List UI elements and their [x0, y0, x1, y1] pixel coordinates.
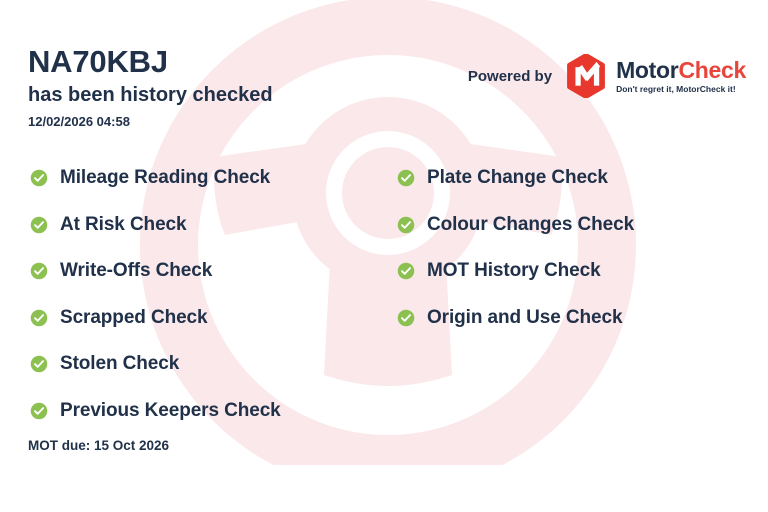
green-check-circle-icon: [397, 216, 415, 234]
check-label: Stolen Check: [60, 353, 179, 375]
green-check-circle-icon: [30, 355, 48, 373]
mot-due-text: MOT due: 15 Oct 2026: [28, 438, 169, 453]
green-check-circle-icon: [397, 169, 415, 187]
motorcheck-logo[interactable]: MotorCheck Don't regret it, MotorCheck i…: [564, 54, 746, 98]
header: NA70KBJ has been history checked 12/02/2…: [28, 46, 273, 129]
check-row: Write-Offs Check: [30, 248, 281, 295]
motorcheck-wordmark-block: MotorCheck Don't regret it, MotorCheck i…: [616, 59, 746, 94]
check-label: Mileage Reading Check: [60, 167, 270, 189]
check-label: Previous Keepers Check: [60, 400, 281, 422]
check-label: Plate Change Check: [427, 167, 608, 189]
green-check-circle-icon: [30, 402, 48, 420]
green-check-circle-icon: [30, 169, 48, 187]
history-checked-subtitle: has been history checked: [28, 83, 273, 107]
powered-by-label: Powered by: [468, 68, 552, 85]
check-label: Write-Offs Check: [60, 260, 212, 282]
green-check-circle-icon: [397, 309, 415, 327]
powered-by-block: Powered by MotorCheck Don't regret it, M…: [468, 54, 746, 98]
vehicle-history-check-card: NA70KBJ has been history checked 12/02/2…: [0, 0, 768, 512]
vehicle-registration-plate: NA70KBJ: [28, 46, 273, 79]
check-timestamp: 12/02/2026 04:58: [28, 114, 273, 129]
check-row: Colour Changes Check: [397, 202, 634, 249]
check-row: Previous Keepers Check: [30, 388, 281, 435]
checks-column-left: Mileage Reading Check At Risk Check Writ…: [30, 155, 281, 434]
check-label: Scrapped Check: [60, 307, 208, 329]
check-row: Mileage Reading Check: [30, 155, 281, 202]
check-label: At Risk Check: [60, 214, 186, 236]
motorcheck-hexagon-logo-icon: [564, 54, 608, 98]
green-check-circle-icon: [30, 216, 48, 234]
check-label: Origin and Use Check: [427, 307, 622, 329]
check-label: MOT History Check: [427, 260, 601, 282]
brand-tagline: Don't regret it, MotorCheck it!: [616, 85, 746, 94]
check-row: At Risk Check: [30, 202, 281, 249]
wordmark-motor: Motor: [616, 57, 678, 83]
check-row: Scrapped Check: [30, 295, 281, 342]
check-row: Plate Change Check: [397, 155, 634, 202]
check-row: Stolen Check: [30, 341, 281, 388]
check-row: Origin and Use Check: [397, 295, 634, 342]
check-label: Colour Changes Check: [427, 214, 634, 236]
motorcheck-wordmark: MotorCheck: [616, 59, 746, 82]
check-row: MOT History Check: [397, 248, 634, 295]
green-check-circle-icon: [30, 309, 48, 327]
green-check-circle-icon: [30, 262, 48, 280]
green-check-circle-icon: [397, 262, 415, 280]
wordmark-check: Check: [678, 57, 746, 83]
checks-column-right: Plate Change Check Colour Changes Check …: [397, 155, 634, 341]
